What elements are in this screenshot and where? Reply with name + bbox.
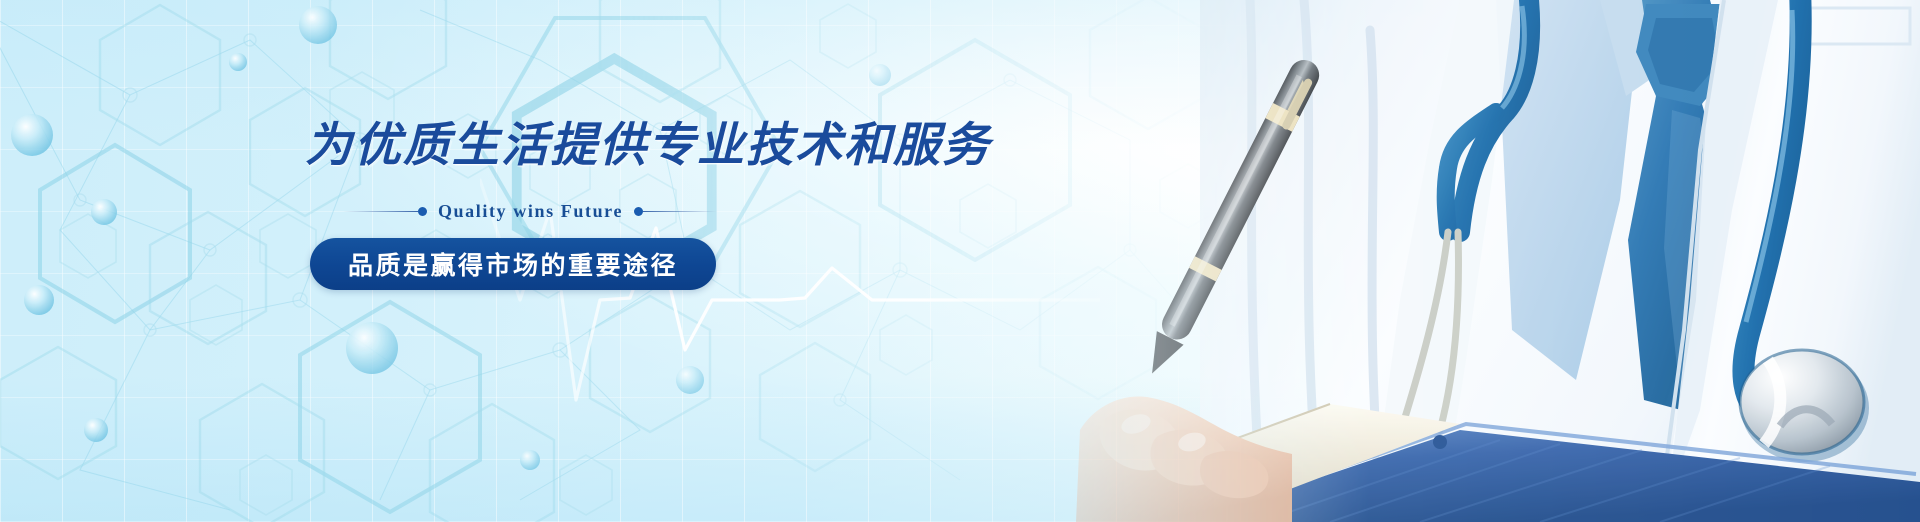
english-tagline: Quality wins Future [427, 201, 634, 222]
tagline-divider: Quality wins Future [343, 201, 718, 222]
medical-hero-banner: 为优质生活提供专业技术和服务 Quality wins Future 品质是赢得… [0, 0, 1920, 522]
banner-content: 为优质生活提供专业技术和服务 Quality wins Future 品质是赢得… [305, 120, 1005, 290]
divider-dot-right [634, 207, 643, 216]
doctor-photo [900, 0, 1920, 522]
divider-rule-left [343, 211, 418, 212]
slogan-button[interactable]: 品质是赢得市场的重要途径 [310, 238, 716, 290]
page-title: 为优质生活提供专业技术和服务 [305, 120, 1005, 171]
divider-dot-left [418, 207, 427, 216]
divider-rule-right [643, 211, 718, 212]
